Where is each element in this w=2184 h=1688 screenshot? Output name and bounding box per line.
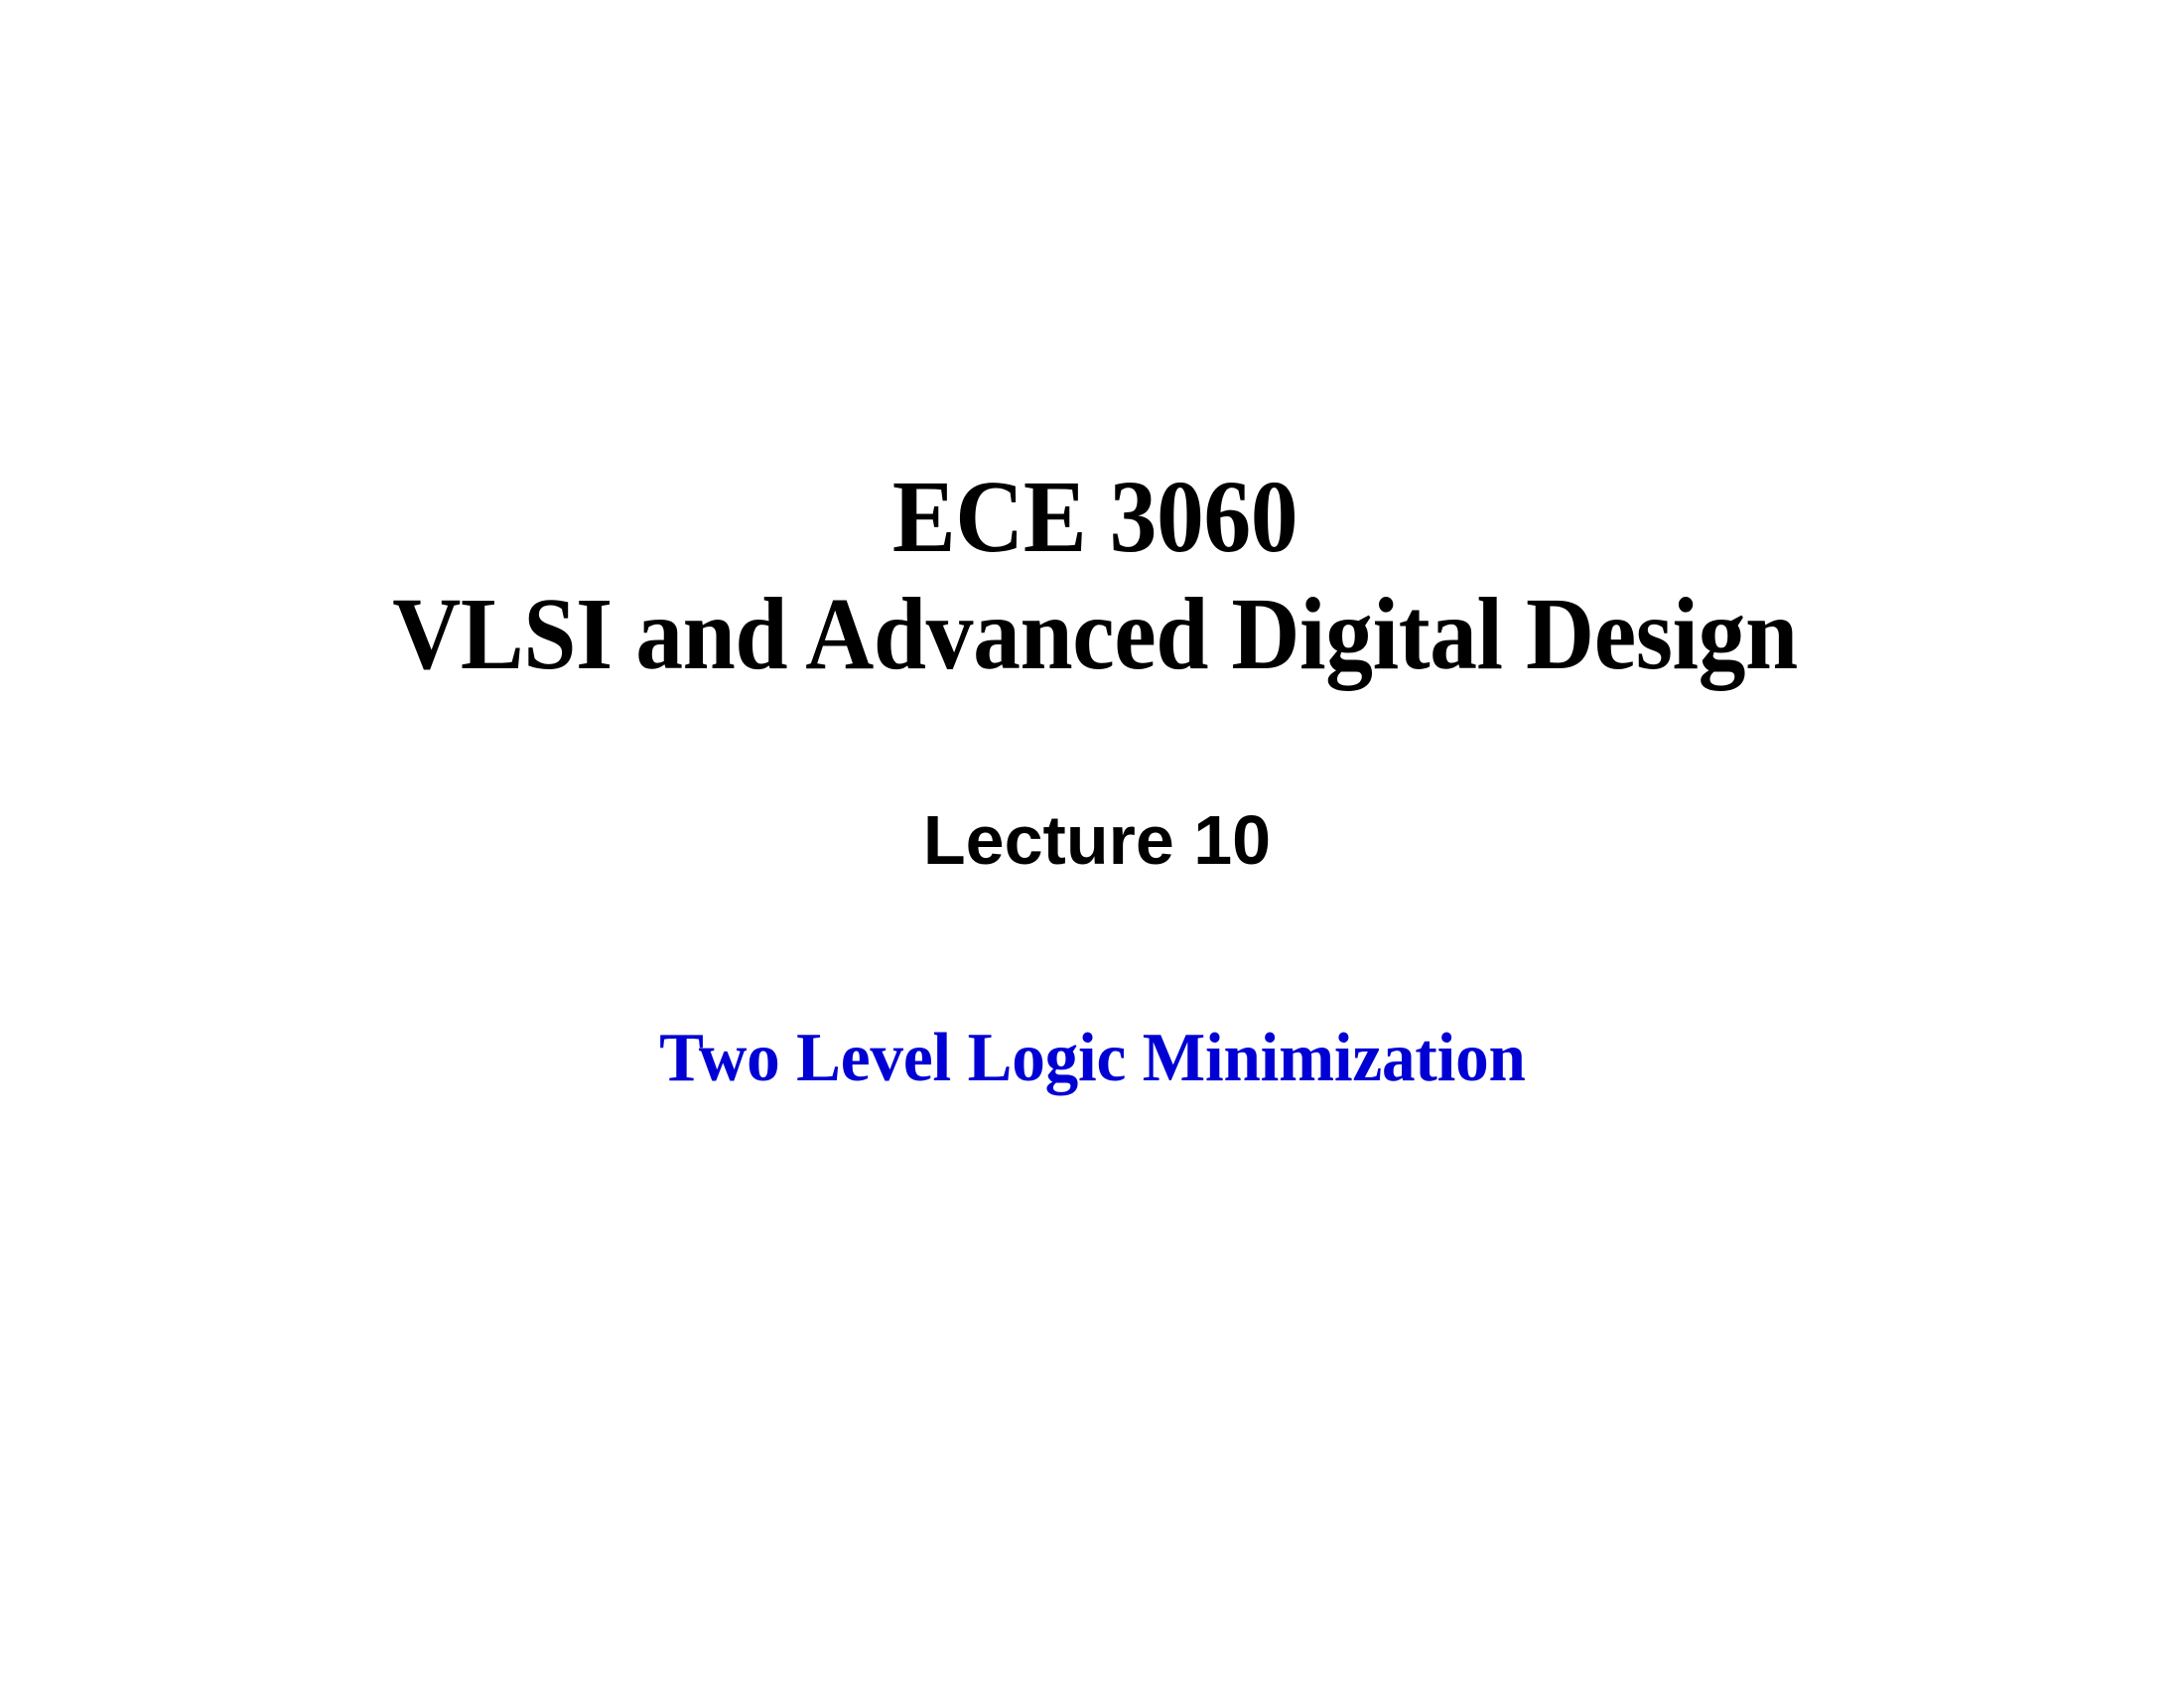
lecture-number-label: Lecture 10 bbox=[923, 800, 1271, 880]
topic-subtitle: Two Level Logic Minimization bbox=[0, 1019, 2184, 1098]
topic-subtitle-label: Two Level Logic Minimization bbox=[659, 1019, 1525, 1098]
slide-body-empty-area bbox=[0, 1132, 2184, 1688]
lecture-number: Lecture 10 bbox=[0, 800, 2184, 880]
lecture-title-slide: ECE 3060 VLSI and Advanced Digital Desig… bbox=[0, 0, 2184, 1688]
course-title-line-2: VLSI and Advanced Digital Design bbox=[93, 576, 2097, 693]
course-title: ECE 3060 VLSI and Advanced Digital Desig… bbox=[0, 459, 2184, 693]
course-title-line-1: ECE 3060 bbox=[93, 459, 2097, 576]
